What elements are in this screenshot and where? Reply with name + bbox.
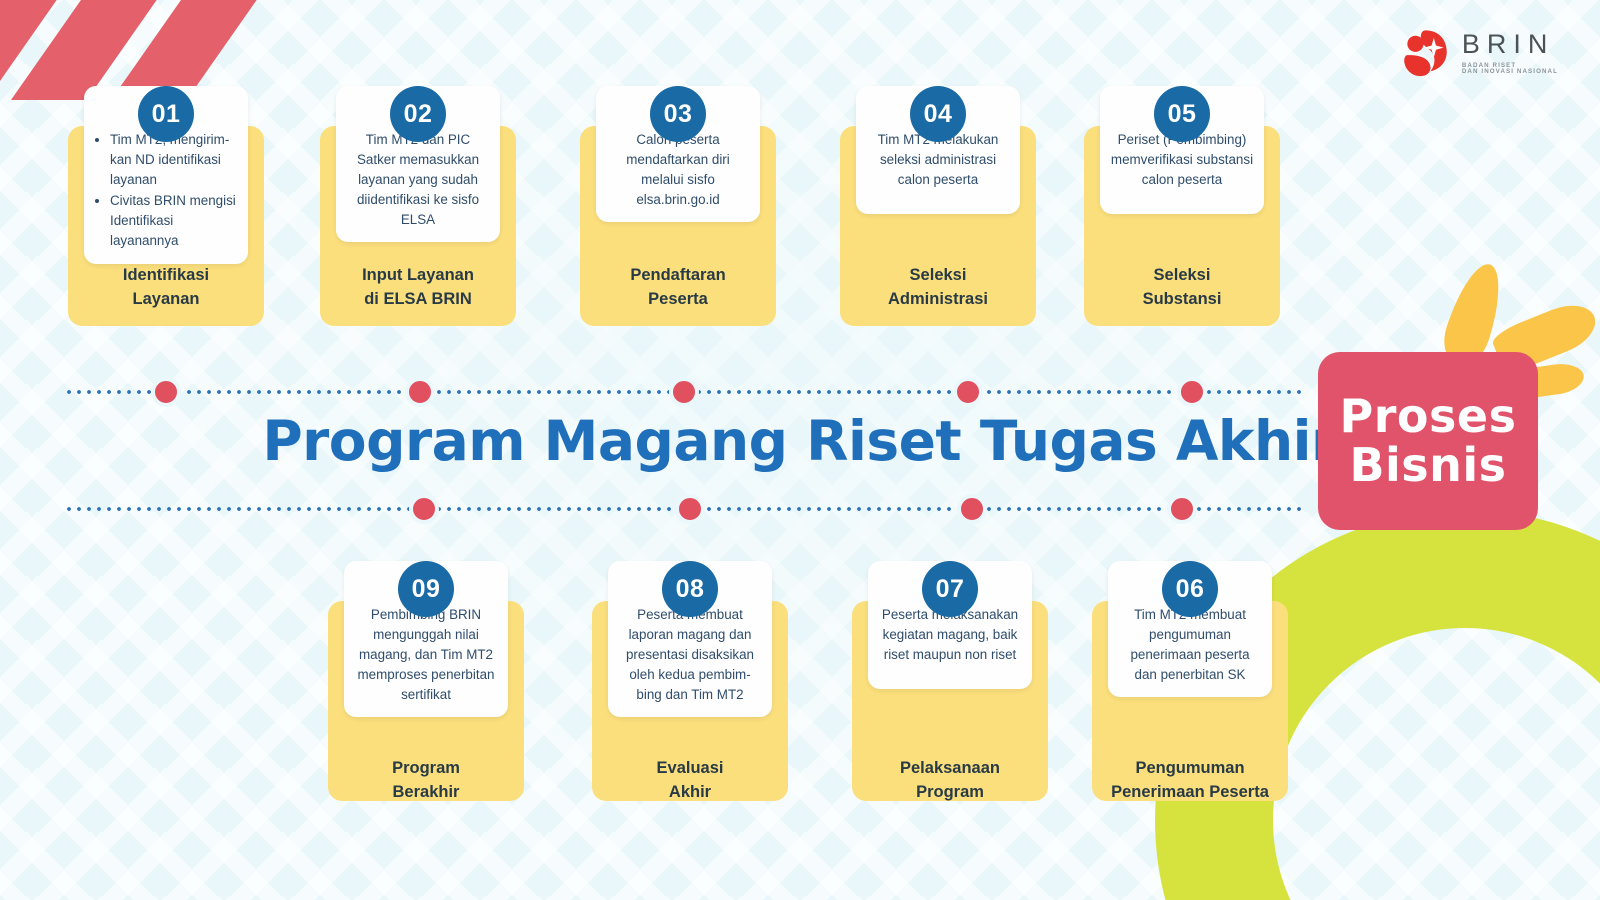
step-number-badge: 07 <box>922 561 978 617</box>
step-label-line1: Identifikasi <box>68 264 264 288</box>
step-label-line1: Seleksi <box>840 264 1036 288</box>
brin-wordmark: BRIN <box>1462 31 1558 58</box>
timeline-node-08 <box>675 494 705 524</box>
step-description: Tim MT2 dan PIC Satker memasukkan layana… <box>346 130 490 230</box>
timeline-node-05 <box>1177 377 1207 407</box>
brin-tagline-line2: DAN INOVASI NASIONAL <box>1462 69 1558 75</box>
proses-bisnis-badge: Proses Bisnis <box>1318 352 1538 530</box>
card-content-panel: 06 Tim MT2 membuat pengumuman penerimaan… <box>1108 561 1272 697</box>
step-number-badge: 01 <box>138 86 194 142</box>
card-content-panel: 09 Pembimbing BRIN mengunggah nilai maga… <box>344 561 508 717</box>
step-label-line1: Program <box>328 757 524 781</box>
card-content-panel: 07 Peserta melaksanakan kegiatan magang,… <box>868 561 1032 689</box>
badge-line1: Proses <box>1340 392 1517 441</box>
decoration-diagonal-stripes <box>0 0 320 100</box>
card-content-panel: 04 Tim MT2 melakukan seleksi administras… <box>856 86 1020 214</box>
step-label: Seleksi Substansi <box>1084 264 1280 311</box>
step-number-badge: 04 <box>910 86 966 142</box>
badge-box: Proses Bisnis <box>1318 352 1538 530</box>
step-label-line2: Program <box>852 781 1048 805</box>
step-label: Pendaftaran Peserta <box>580 264 776 311</box>
step-label: Pelaksanaan Program <box>852 757 1048 804</box>
timeline-node-09 <box>409 494 439 524</box>
step-label-line2: Penerimaan Peserta <box>1070 781 1310 805</box>
step-label: Pengumuman Penerimaan Peserta <box>1070 757 1310 804</box>
card-content-panel: 08 Peserta membuat laporan magang dan pr… <box>608 561 772 717</box>
step-label-line1: Input Layanan <box>320 264 516 288</box>
step-label: Seleksi Administrasi <box>840 264 1036 311</box>
step-label-line2: Substansi <box>1084 288 1280 312</box>
timeline-node-03 <box>669 377 699 407</box>
step-number-badge: 06 <box>1162 561 1218 617</box>
timeline-node-04 <box>953 377 983 407</box>
step-description: Pembimbing BRIN mengunggah nilai magang,… <box>354 605 498 705</box>
step-label: Identifikasi Layanan <box>68 264 264 311</box>
step-number-badge: 08 <box>662 561 718 617</box>
step-label-line2: Peserta <box>580 288 776 312</box>
step-description: Tim MT2, mengirim-kan ND identifikasi la… <box>94 130 238 251</box>
timeline-node-07 <box>957 494 987 524</box>
step-number-badge: 09 <box>398 561 454 617</box>
step-label-line2: di ELSA BRIN <box>320 288 516 312</box>
step-label-line2: Administrasi <box>840 288 1036 312</box>
card-content-panel: 03 Calon peserta mendaftarkan diri melal… <box>596 86 760 222</box>
card-content-panel: 02 Tim MT2 dan PIC Satker memasukkan lay… <box>336 86 500 242</box>
step-label: Evaluasi Akhir <box>592 757 788 804</box>
timeline-node-02 <box>405 377 435 407</box>
step-label: Program Berakhir <box>328 757 524 804</box>
timeline-node-06 <box>1167 494 1197 524</box>
card-content-panel: 01 Tim MT2, mengirim-kan ND identifikasi… <box>84 86 248 264</box>
step-label-line1: Evaluasi <box>592 757 788 781</box>
step-label-line1: Seleksi <box>1084 264 1280 288</box>
step-label-line1: Pendaftaran <box>580 264 776 288</box>
badge-line2: Bisnis <box>1349 441 1506 490</box>
step-label-line2: Berakhir <box>328 781 524 805</box>
step-label-line2: Akhir <box>592 781 788 805</box>
step-number-badge: 05 <box>1154 86 1210 142</box>
infographic-canvas: BRIN BADAN RISET DAN INOVASI NASIONAL 01… <box>0 0 1600 900</box>
brin-logo-text: BRIN BADAN RISET DAN INOVASI NASIONAL <box>1462 31 1558 75</box>
step-label-line2: Layanan <box>68 288 264 312</box>
step-bullet: Civitas BRIN mengisi Identifikasi layana… <box>110 191 238 251</box>
step-description: Peserta membuat laporan magang dan prese… <box>618 605 762 705</box>
brin-logo: BRIN BADAN RISET DAN INOVASI NASIONAL <box>1396 26 1558 80</box>
step-label: Input Layanan di ELSA BRIN <box>320 264 516 311</box>
step-label-line1: Pelaksanaan <box>852 757 1048 781</box>
timeline-node-01 <box>151 377 181 407</box>
step-number-badge: 02 <box>390 86 446 142</box>
brin-tagline: BADAN RISET DAN INOVASI NASIONAL <box>1462 63 1558 75</box>
step-number-badge: 03 <box>650 86 706 142</box>
brin-pinwheel-icon <box>1396 26 1450 80</box>
step-label-line1: Pengumuman <box>1070 757 1310 781</box>
card-content-panel: 05 Periset (Pembimbing) memverifikasi su… <box>1100 86 1264 214</box>
